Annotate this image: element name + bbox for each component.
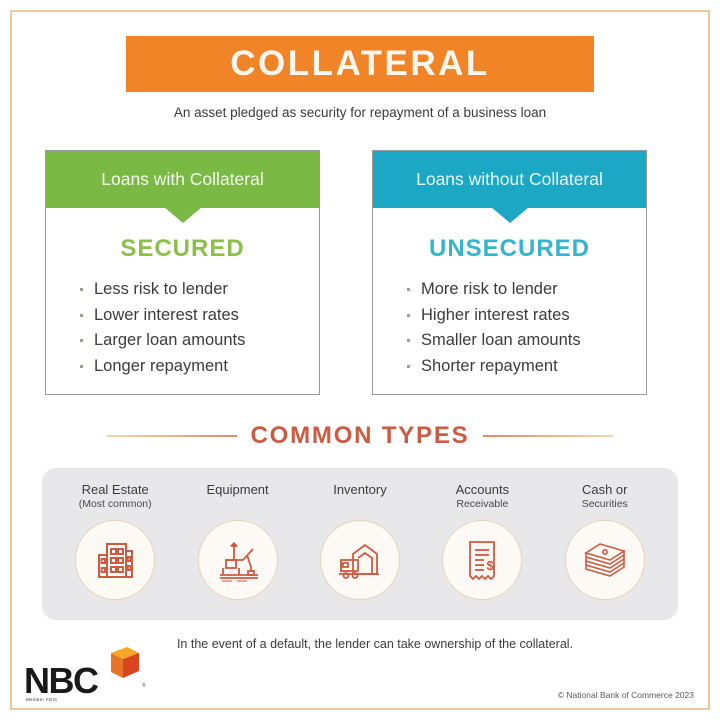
type-label-sub: Receivable xyxy=(456,497,509,512)
panel-secured-header: Loans with Collateral xyxy=(46,151,319,208)
type-equipment-label: Equipment xyxy=(207,482,269,514)
panel-unsecured-subhead: UNSECURED xyxy=(373,235,646,263)
type-label-main: Accounts xyxy=(456,482,509,497)
panel-secured-header-label: Loans with Collateral xyxy=(101,169,263,190)
chevron-down-icon xyxy=(164,207,202,223)
divider-rule-right xyxy=(483,435,613,437)
cash-stack-icon xyxy=(565,520,645,600)
title-banner: COLLATERAL xyxy=(126,36,594,92)
office-building-icon xyxy=(75,520,155,600)
page-subtitle: An asset pledged as security for repayme… xyxy=(0,105,720,120)
nbc-cube-icon xyxy=(108,645,142,694)
panel-unsecured-header: Loans without Collateral xyxy=(373,151,646,208)
panel-unsecured-header-label: Loans without Collateral xyxy=(416,169,603,190)
type-label-main: Inventory xyxy=(333,482,386,497)
panel-secured-subhead: SECURED xyxy=(46,235,319,263)
list-item: Shorter repayment xyxy=(407,354,646,380)
type-cash-securities-label: Cash or Securities xyxy=(582,482,628,514)
type-label-sub: (Most common) xyxy=(79,497,152,512)
nbc-logo-text: NBC xyxy=(24,660,98,702)
list-item: Smaller loan amounts xyxy=(407,328,646,354)
invoice-receipt-icon: $ xyxy=(442,520,522,600)
list-item: Higher interest rates xyxy=(407,303,646,329)
type-real-estate-label: Real Estate (Most common) xyxy=(79,482,152,514)
list-item: Less risk to lender xyxy=(80,277,319,303)
panel-unsecured: Loans without Collateral UNSECURED More … xyxy=(372,150,647,395)
type-cash-securities: Cash or Securities xyxy=(547,482,663,600)
type-accounts-receivable-label: Accounts Receivable xyxy=(456,482,509,514)
type-inventory: Inventory xyxy=(302,482,418,600)
type-accounts-receivable: Accounts Receivable $ xyxy=(424,482,540,600)
list-item: Larger loan amounts xyxy=(80,328,319,354)
panel-unsecured-bullets: More risk to lender Higher interest rate… xyxy=(373,277,646,379)
svg-text:$: $ xyxy=(487,558,495,573)
copyright-text: © National Bank of Commerce 2023 xyxy=(558,690,694,700)
common-types-card: Real Estate (Most common) xyxy=(42,468,678,620)
common-types-heading: COMMON TYPES xyxy=(0,422,720,450)
type-label-main: Equipment xyxy=(207,482,269,497)
list-item: More risk to lender xyxy=(407,277,646,303)
common-types-title: COMMON TYPES xyxy=(251,422,470,450)
chevron-down-icon xyxy=(491,207,529,223)
list-item: Longer repayment xyxy=(80,354,319,380)
type-inventory-label: Inventory xyxy=(333,482,386,514)
type-equipment: Equipment xyxy=(180,482,296,600)
member-fdic-text: Member FDIC xyxy=(26,697,58,702)
registered-mark: ® xyxy=(142,683,146,689)
panel-secured-bullets: Less risk to lender Lower interest rates… xyxy=(46,277,319,379)
type-label-sub: Securities xyxy=(582,497,628,512)
list-item: Lower interest rates xyxy=(80,303,319,329)
panel-secured: Loans with Collateral SECURED Less risk … xyxy=(45,150,320,395)
footer-note: In the event of a default, the lender ca… xyxy=(140,637,610,651)
warehouse-truck-icon xyxy=(320,520,400,600)
infographic-root: COLLATERAL An asset pledged as security … xyxy=(0,0,720,720)
nbc-logo: NBC Member FDIC ® xyxy=(24,645,144,705)
divider-rule-left xyxy=(107,435,237,437)
type-label-main: Cash or xyxy=(582,482,628,497)
type-label-main: Real Estate xyxy=(82,482,149,497)
page-title: COLLATERAL xyxy=(230,44,490,84)
crane-machinery-icon xyxy=(198,520,278,600)
type-real-estate: Real Estate (Most common) xyxy=(57,482,173,600)
